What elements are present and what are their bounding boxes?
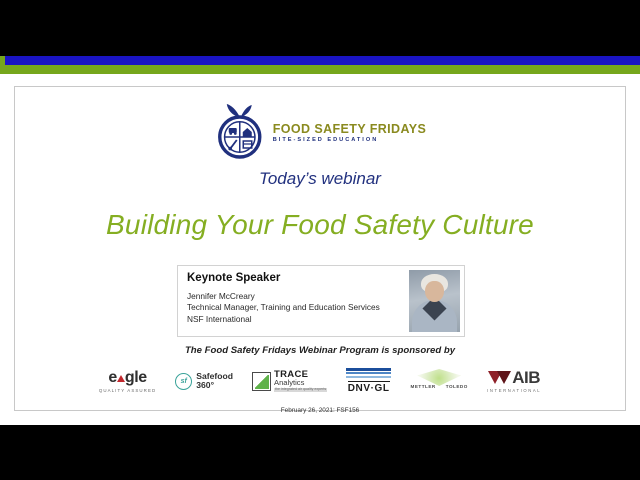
presentation-slide: FOOD SAFETY FRIDAYS BITE-SIZED EDUCATION… (0, 74, 640, 425)
eagle-tagline: QUALITY ASSURED (99, 388, 156, 393)
aib-tagline: INTERNATIONAL (487, 388, 541, 393)
page-title: Building Your Food Safety Culture (15, 209, 625, 241)
eyebrow-text: Today’s webinar (15, 169, 625, 189)
trace-line3: the integrated air quality experts (274, 388, 327, 393)
mettler-word2: TOLEDO (446, 384, 468, 389)
accent-left-strip (0, 56, 5, 74)
dnv-bars-icon (346, 368, 391, 379)
sponsor-logo-safefood360: sf Safefood 360° (175, 367, 233, 395)
speaker-role: Technical Manager, Training and Educatio… (187, 302, 409, 313)
eagle-wordmark-tail: gle (125, 370, 147, 386)
logo-title: FOOD SAFETY FRIDAYS (273, 123, 426, 136)
sponsor-logo-mettler-toledo: METTLER TOLEDO (410, 368, 468, 394)
sponsor-logo-row: e gle QUALITY ASSURED sf Safefood 360° (15, 367, 625, 395)
safefood-line2: 360° (196, 381, 233, 390)
safefood-circle-icon: sf (175, 373, 192, 390)
accent-bar-green (0, 65, 640, 74)
eagle-triangle-icon (117, 375, 125, 382)
sponsor-intro-text: The Food Safety Fridays Webinar Program … (15, 345, 625, 356)
sponsor-logo-trace-analytics: TRACE Analytics the integrated air quali… (252, 367, 327, 395)
food-safety-fridays-apple-logo (214, 103, 266, 159)
video-frame: FOOD SAFETY FRIDAYS BITE-SIZED EDUCATION… (0, 0, 640, 480)
speaker-details: Keynote Speaker Jennifer McCreary Techni… (187, 272, 409, 336)
letterbox-top (0, 0, 640, 52)
footer-date: February 26, 2021: FSF156 (15, 407, 625, 414)
aib-wordmark: AIB (512, 369, 540, 386)
speaker-name: Jennifer McCreary (187, 291, 409, 302)
keynote-speaker-card: Keynote Speaker Jennifer McCreary Techni… (177, 265, 465, 337)
trace-line2: Analytics (274, 379, 327, 387)
speaker-heading: Keynote Speaker (187, 272, 409, 284)
accent-bar-blue (0, 56, 640, 65)
speaker-headshot (409, 270, 460, 332)
aib-triangle-icon-2 (497, 371, 511, 384)
sponsor-logo-eagle: e gle QUALITY ASSURED (99, 367, 156, 395)
dnv-wordmark: DNV·GL (348, 381, 390, 394)
trace-checkmark-icon (252, 372, 271, 391)
logo-subtitle: BITE-SIZED EDUCATION (273, 138, 426, 144)
brand-logo: FOOD SAFETY FRIDAYS BITE-SIZED EDUCATION (214, 103, 426, 159)
sponsor-logo-dnv-gl: DNV·GL (346, 367, 391, 395)
eagle-wordmark-head: e (108, 370, 117, 386)
mettler-word1: METTLER (411, 384, 436, 389)
speaker-organization: NSF International (187, 314, 409, 325)
sponsor-logo-aib-international: AIB INTERNATIONAL (487, 367, 541, 395)
letterbox-bottom (0, 425, 640, 480)
slide-border-frame: FOOD SAFETY FRIDAYS BITE-SIZED EDUCATION… (14, 86, 626, 411)
